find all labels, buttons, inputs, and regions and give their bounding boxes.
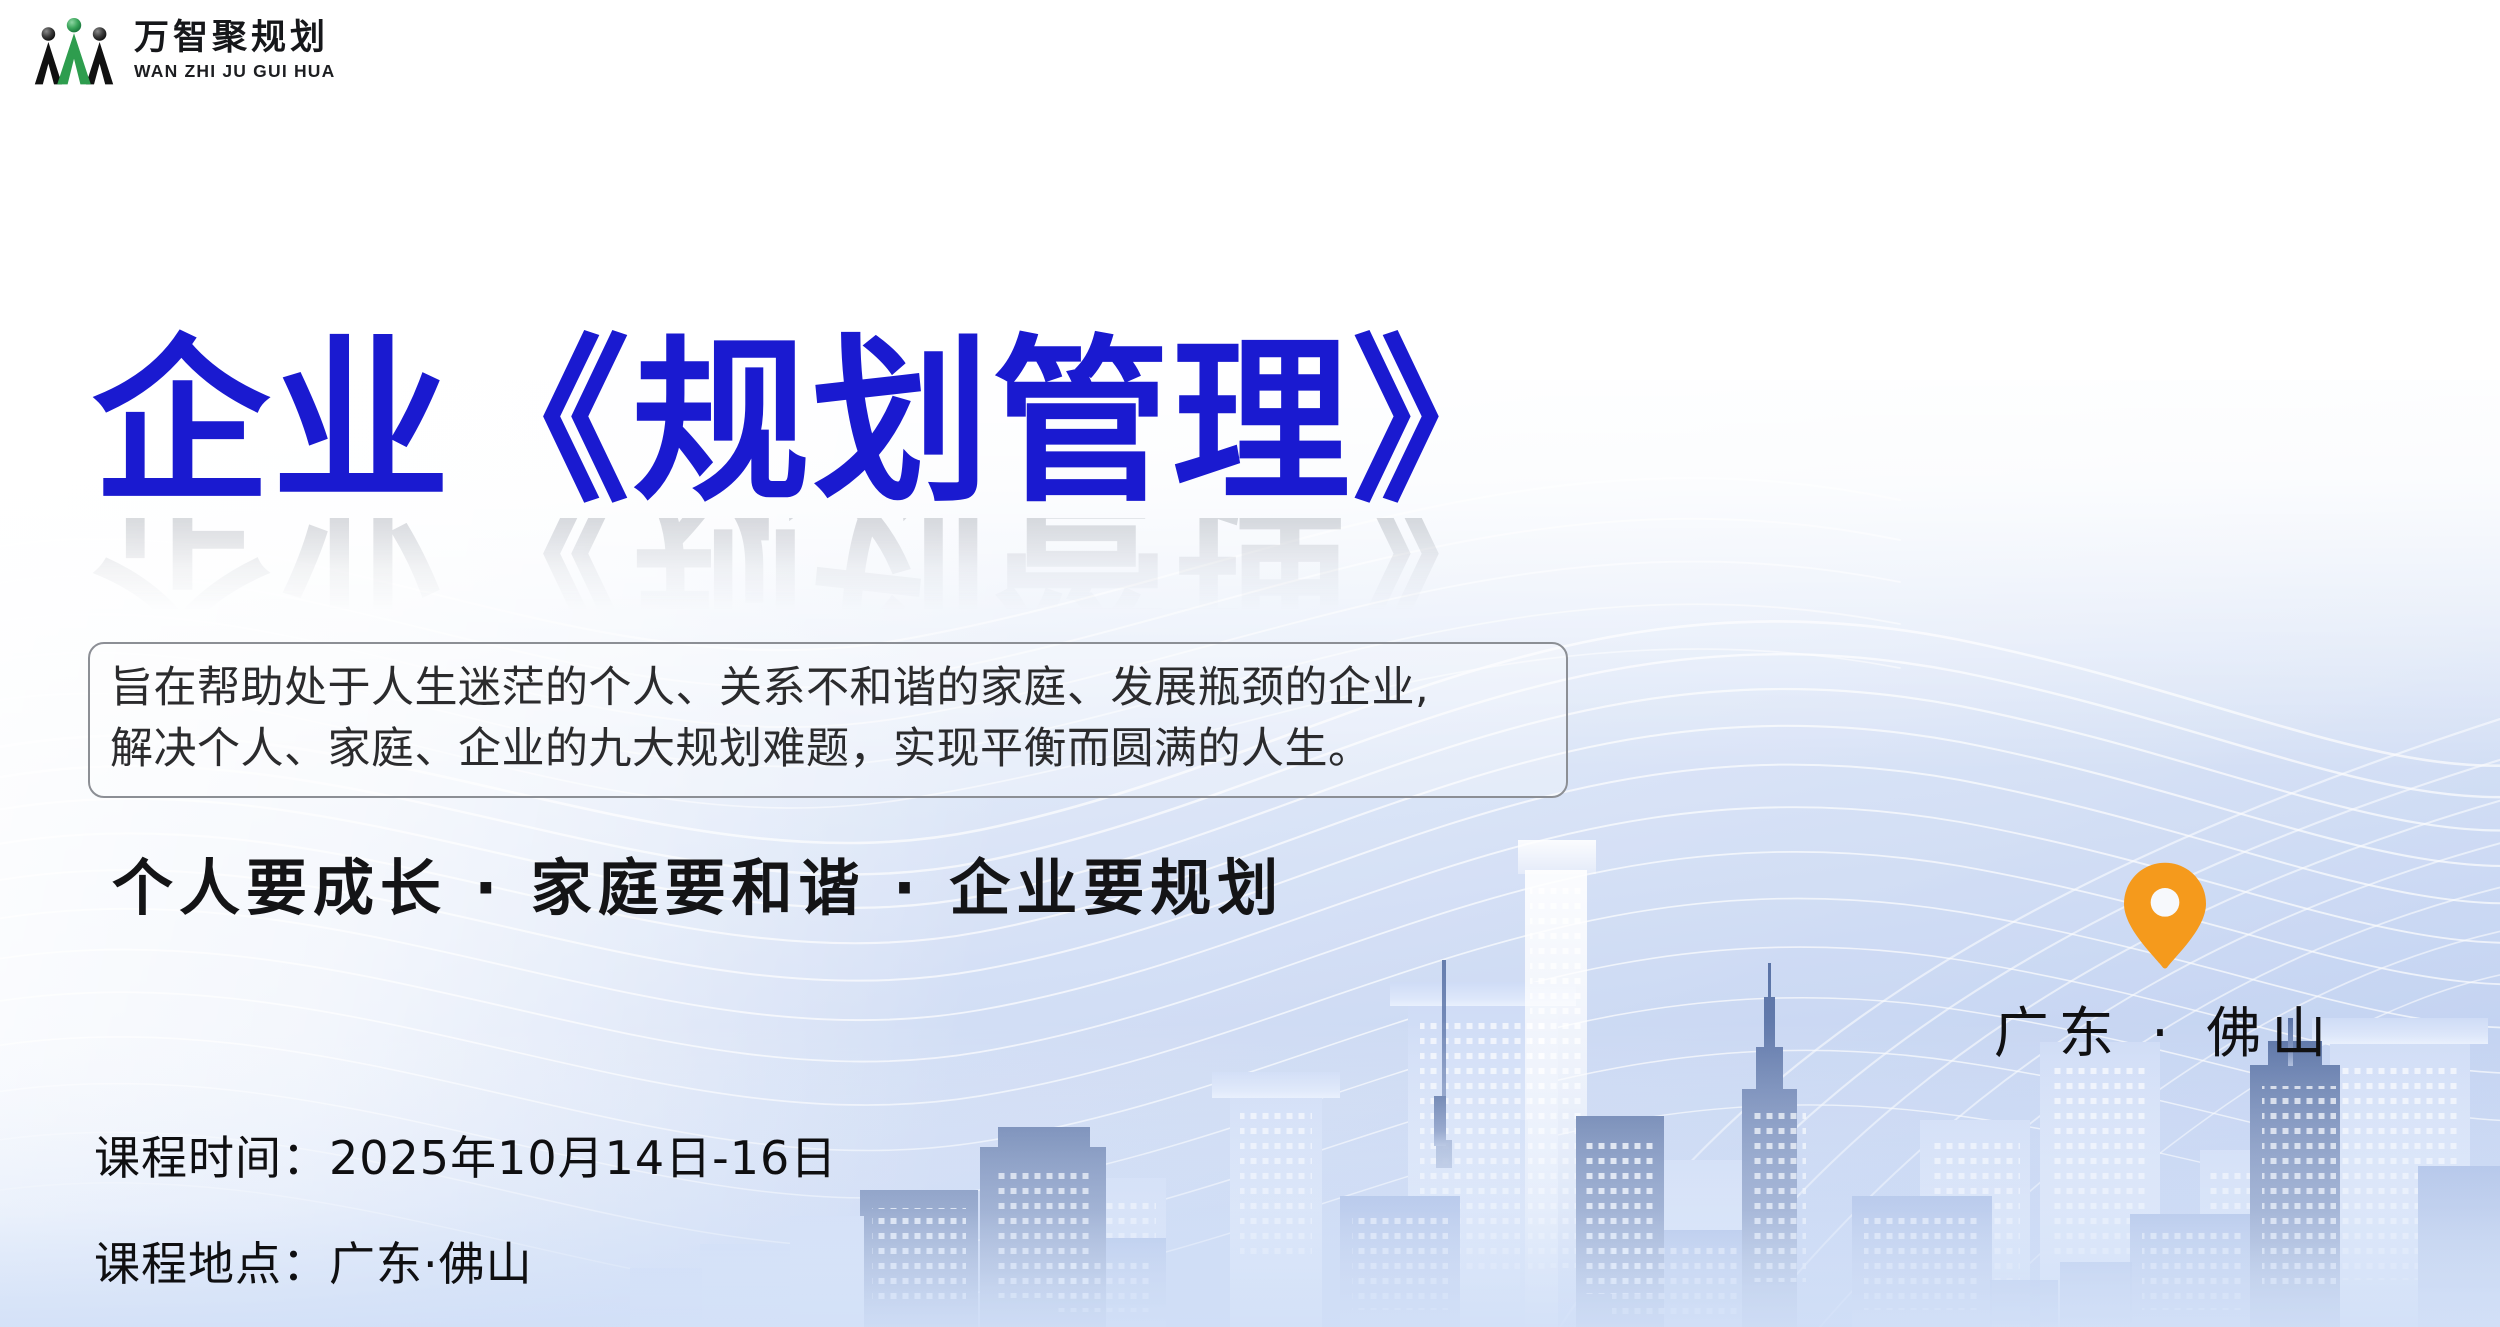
location-badge: 广东 · 佛山: [1955, 862, 2375, 1068]
location-label: 广东 · 佛山: [1955, 988, 2375, 1068]
course-meta: 课程时间：2025年10月14日-16日 课程地点：广东·佛山: [94, 1122, 837, 1294]
brand-name-cn: 万智聚规划: [134, 20, 335, 55]
poster-canvas: 万智聚规划 WAN ZHI JU GUI HUA 企业《规划管理》 企业《规划管…: [0, 0, 2500, 1327]
course-time-row: 课程时间：2025年10月14日-16日: [94, 1122, 837, 1188]
map-pin-icon: [2124, 862, 2206, 970]
hero-title-block: 企业《规划管理》 企业《规划管理》: [92, 334, 1532, 636]
page-title-reflection: 企业《规划管理》: [92, 518, 1532, 636]
brand-text: 万智聚规划 WAN ZHI JU GUI HUA: [134, 20, 335, 81]
brand-logo[interactable]: 万智聚规划 WAN ZHI JU GUI HUA: [30, 14, 335, 86]
three-people-logo-icon: [30, 14, 118, 86]
brand-name-en: WAN ZHI JU GUI HUA: [134, 63, 335, 81]
description-line-2: 解决个人、家庭、企业的九大规划难题，实现平衡而圆满的人生。: [110, 719, 1546, 780]
slogan-text: 个人要成长 · 家庭要和谐 · 企业要规划: [112, 838, 1284, 927]
page-title: 企业《规划管理》: [92, 334, 1532, 512]
course-place-row: 课程地点：广东·佛山: [94, 1228, 837, 1294]
description-box: 旨在帮助处于人生迷茫的个人、关系不和谐的家庭、发展瓶颈的企业, 解决个人、家庭、…: [88, 642, 1568, 798]
description-line-1: 旨在帮助处于人生迷茫的个人、关系不和谐的家庭、发展瓶颈的企业,: [110, 658, 1546, 719]
